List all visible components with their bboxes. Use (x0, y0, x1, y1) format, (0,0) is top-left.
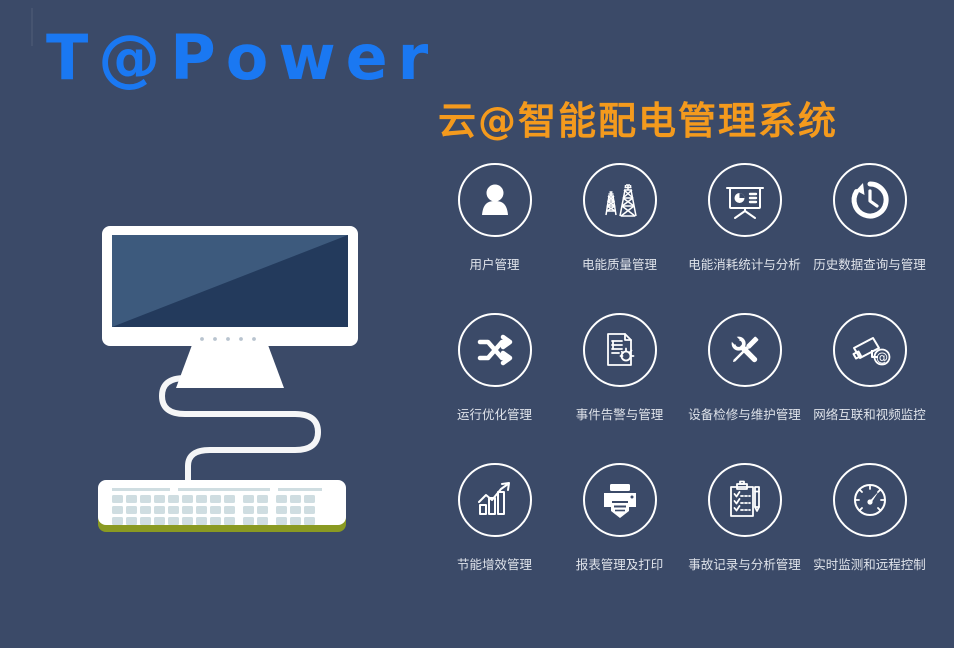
feature-item-operation-optimization[interactable]: 运行优化管理 (432, 313, 557, 463)
printer-icon (583, 463, 657, 537)
feature-item-power-quality[interactable]: 电能质量管理 (557, 163, 682, 313)
decorative-artifact-line (31, 8, 33, 46)
keyboard-strip (112, 488, 170, 491)
feature-item-incident-records[interactable]: 事故记录与分析管理 (682, 463, 807, 613)
monitor-stand (176, 345, 284, 388)
feature-label: 历史数据查询与管理 (813, 257, 926, 273)
cctv-camera-at-icon: @ (833, 313, 907, 387)
power-tower-icon (583, 163, 657, 237)
keyboard-strip (178, 488, 270, 491)
feature-label: 电能质量管理 (582, 257, 657, 273)
feature-item-user-management[interactable]: 用户管理 (432, 163, 557, 313)
svg-text:@: @ (876, 350, 888, 364)
keyboard-strip (278, 488, 322, 491)
computer-cable (162, 378, 318, 480)
monitor-indicator-dot (239, 337, 243, 341)
feature-item-history-data[interactable]: 历史数据查询与管理 (807, 163, 932, 313)
feature-item-event-alarm[interactable]: 事件告警与管理 (557, 313, 682, 463)
feature-label: 网络互联和视频监控 (813, 407, 926, 423)
wrench-screwdriver-icon (708, 313, 782, 387)
shuffle-arrows-icon (458, 313, 532, 387)
poster-canvas: T@Power 云@智能配电管理系统 (0, 0, 954, 648)
keyboard-keys (112, 495, 315, 525)
user-icon (458, 163, 532, 237)
feature-item-energy-saving[interactable]: 节能增效管理 (432, 463, 557, 613)
feature-item-realtime-control[interactable]: 实时监测和远程控制 (807, 463, 932, 613)
feature-label: 节能增效管理 (457, 557, 532, 573)
feature-label: 事故记录与分析管理 (688, 557, 801, 573)
monitor-indicator-dot (213, 337, 217, 341)
presentation-chart-icon (708, 163, 782, 237)
monitor-indicator-dot (252, 337, 256, 341)
feature-label: 报表管理及打印 (576, 557, 664, 573)
feature-label: 设备检修与维护管理 (688, 407, 801, 423)
feature-item-consumption-analysis[interactable]: 电能消耗统计与分析 (682, 163, 807, 313)
monitor-indicator-dot (200, 337, 204, 341)
feature-label: 用户管理 (469, 257, 519, 273)
page-subtitle: 云@智能配电管理系统 (438, 96, 838, 146)
feature-item-maintenance[interactable]: 设备检修与维护管理 (682, 313, 807, 463)
page-title: T@Power (46, 18, 438, 98)
feature-label: 运行优化管理 (457, 407, 532, 423)
desktop-computer-illustration (80, 200, 400, 560)
history-clock-icon (833, 163, 907, 237)
feature-item-video-monitoring[interactable]: @ 网络互联和视频监控 (807, 313, 932, 463)
feature-item-report-printing[interactable]: 报表管理及打印 (557, 463, 682, 613)
clipboard-checklist-pen-icon (708, 463, 782, 537)
feature-label: 电能消耗统计与分析 (688, 257, 801, 273)
feature-label: 事件告警与管理 (576, 407, 664, 423)
monitor-indicator-dot (226, 337, 230, 341)
feature-label: 实时监测和远程控制 (813, 557, 926, 573)
document-alert-icon (583, 313, 657, 387)
gauge-meter-icon (833, 463, 907, 537)
growth-bar-chart-icon (458, 463, 532, 537)
feature-grid: 用户管理 电能质量管理 (432, 163, 932, 613)
